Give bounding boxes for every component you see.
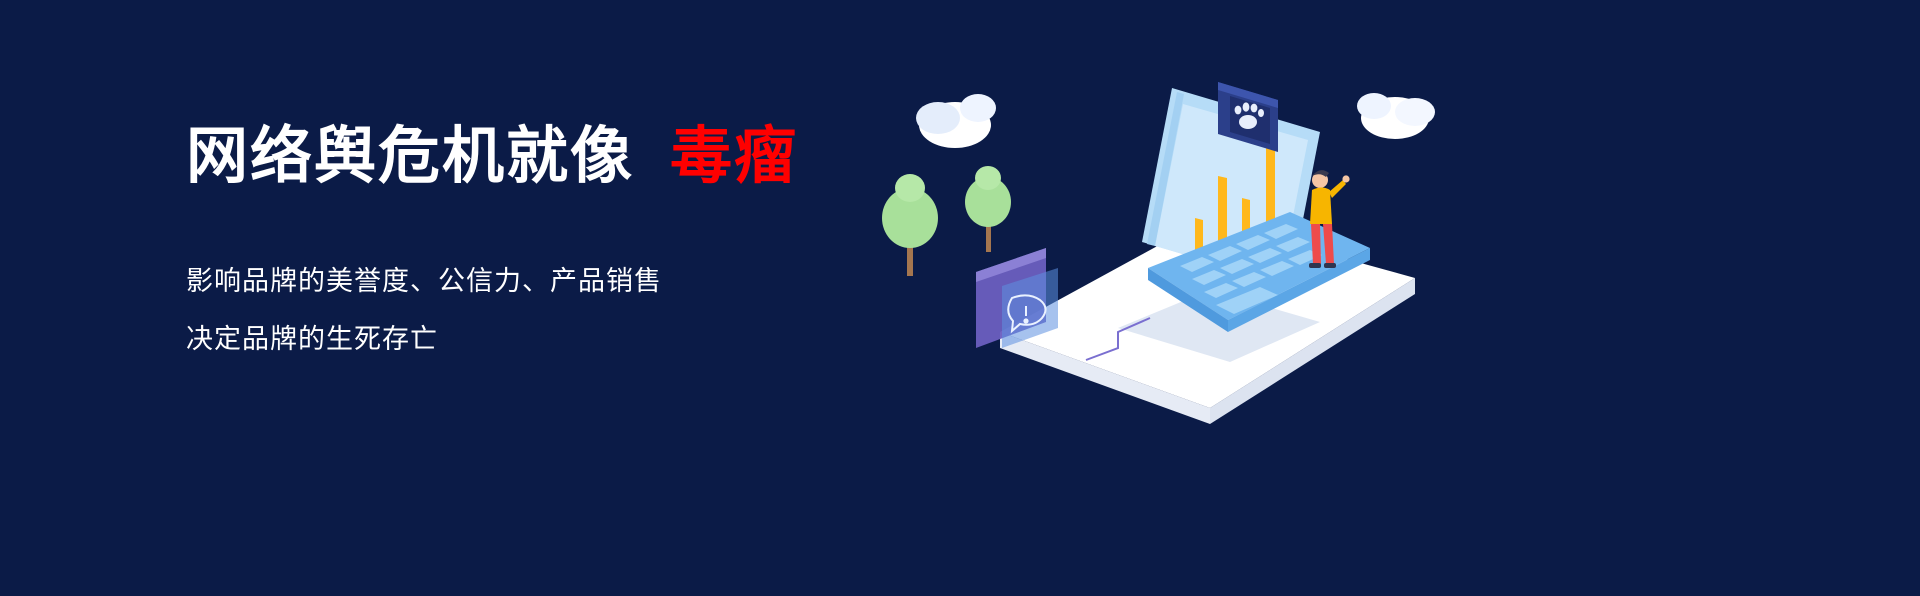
hero-illustration bbox=[850, 60, 1450, 460]
cloud-icon-right bbox=[1357, 93, 1435, 139]
tree-icon-right bbox=[965, 166, 1011, 252]
headline-primary-text: 网络舆危机就像 bbox=[186, 126, 634, 188]
hero-banner: 网络舆危机就像 毒瘤 影响品牌的美誉度、公信力、产品销售 决定品牌的生死存亡 bbox=[0, 0, 1920, 596]
tree-icon-left bbox=[882, 174, 938, 276]
headline-highlight-text: 毒瘤 bbox=[670, 126, 798, 188]
cloud-icon-left bbox=[916, 94, 996, 148]
